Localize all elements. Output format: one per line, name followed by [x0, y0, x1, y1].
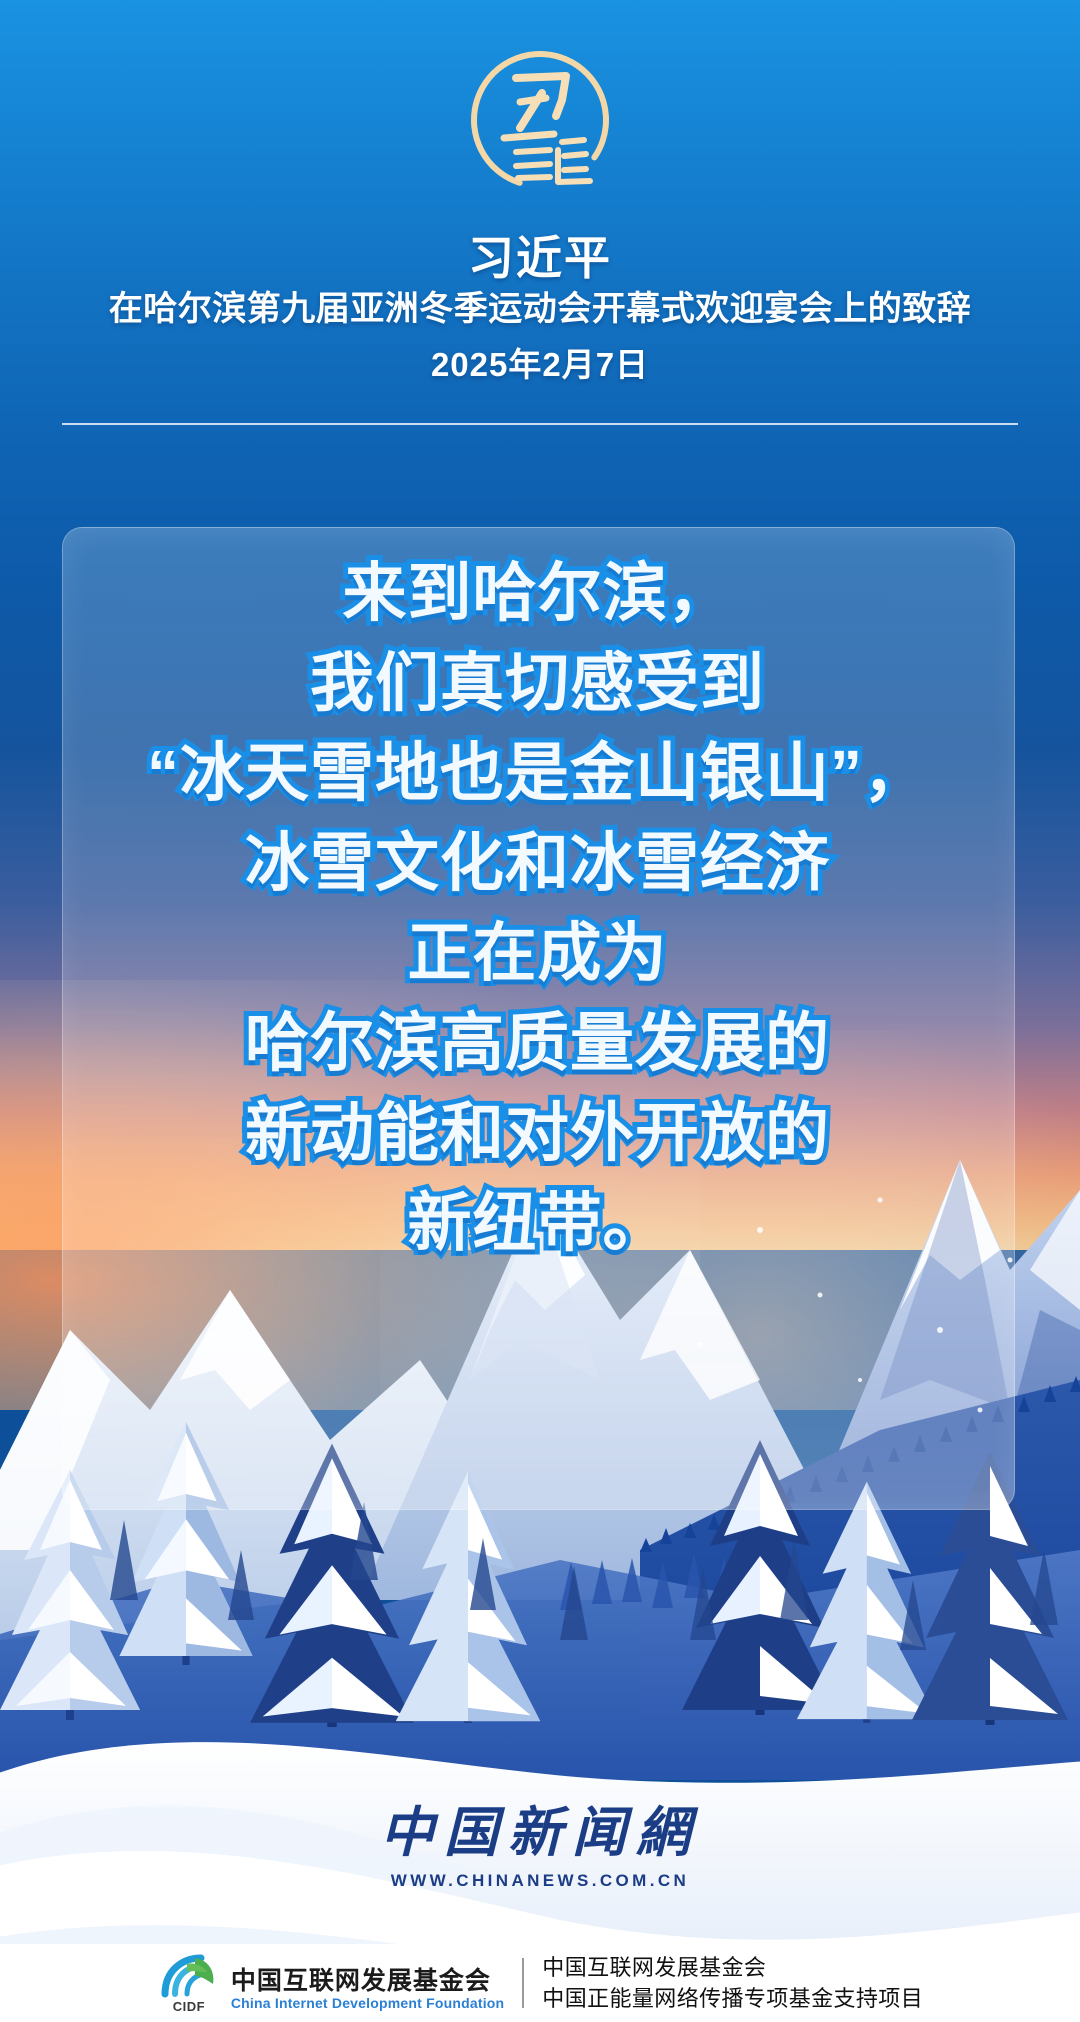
quote-line: 冰雪文化和冰雪经济 — [62, 818, 1013, 908]
cidf-abbr: CIDF — [157, 1999, 221, 2014]
chinanews-name: 中国新闻網 — [0, 1788, 1080, 1867]
speech-subtitle: 在哈尔滨第九届亚洲冬季运动会开幕式欢迎宴会上的致辞 — [0, 281, 1080, 330]
quote-line: 哈尔滨高质量发展的 — [62, 998, 1013, 1088]
speech-date: 2025年2月7日 — [0, 338, 1080, 386]
cidf-name-cn: 中国互联网发展基金会 — [231, 1968, 504, 1995]
cidf-logo: CIDF 中国互联网发展基金会 China Internet Developme… — [157, 1954, 504, 2012]
chinanews-logo: 中国新闻網 WWW.CHINANEWS.COM.CN — [0, 1788, 1080, 1891]
quote-block: 来到哈尔滨， 我们真切感受到 “冰天雪地也是金山银山”， 冰雪文化和冰雪经济 正… — [62, 548, 1013, 1268]
quote-line: 新纽带。 — [62, 1178, 1013, 1268]
quote-line: 我们真切感受到 — [62, 638, 1013, 728]
cidf-globe-icon: CIDF — [157, 1954, 221, 2012]
cidf-name-en: China Internet Development Foundation — [231, 1995, 504, 2012]
quote-line: 新动能和对外开放的 — [62, 1088, 1013, 1178]
quote-line: “冰天雪地也是金山银山”， — [62, 728, 1013, 818]
header-divider-rule — [62, 423, 1018, 425]
xi-yan-dao-seal-logo — [458, 38, 622, 202]
poster-root: 习近平 在哈尔滨第九届亚洲冬季运动会开幕式欢迎宴会上的致辞 2025年2月7日 … — [0, 0, 1080, 2022]
quote-line: 正在成为 — [62, 908, 1013, 998]
footer-divider — [522, 1958, 524, 2008]
footer-sponsor-line-2: 中国正能量网络传播专项基金支持项目 — [542, 1986, 923, 2012]
sponsor-footer-bar: CIDF 中国互联网发展基金会 China Internet Developme… — [0, 1944, 1080, 2022]
chinanews-url: WWW.CHINANEWS.COM.CN — [0, 1871, 1080, 1891]
footer-sponsor-line-1: 中国互联网发展基金会 — [542, 1955, 923, 1981]
quote-line: 来到哈尔滨， — [62, 548, 1013, 638]
speaker-name: 习近平 — [0, 222, 1080, 288]
